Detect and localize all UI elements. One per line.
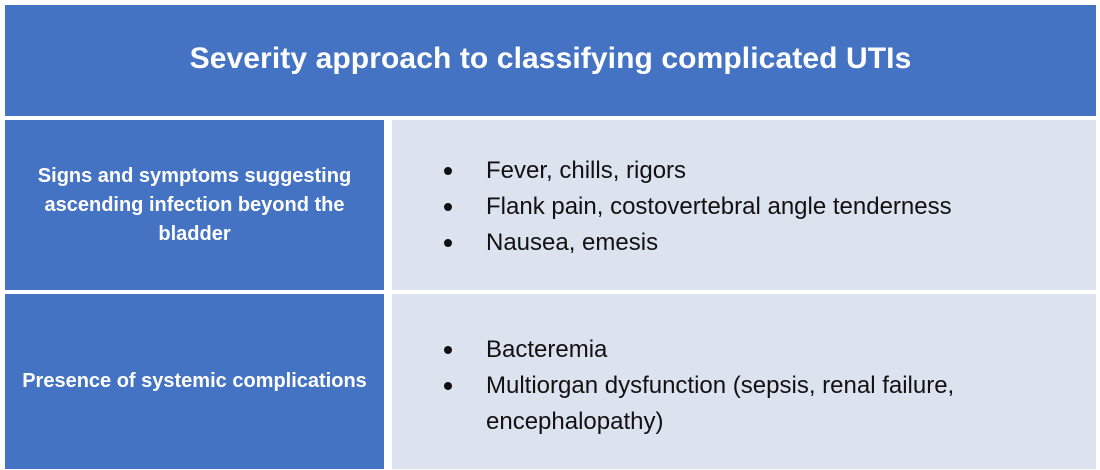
row-content-systemic-complications: Bacteremia Multiorgan dysfunction (sepsi… <box>392 294 1096 469</box>
list-item: Nausea, emesis <box>444 225 1096 261</box>
list-item-label: Fever, chills, rigors <box>486 157 686 184</box>
bullet-dot-icon <box>444 346 452 354</box>
column-divider <box>384 120 392 290</box>
row-label-signs-and-symptoms: Signs and symptoms suggesting ascending … <box>5 120 384 290</box>
table-row: Signs and symptoms suggesting ascending … <box>5 120 1096 290</box>
bullet-dot-icon <box>444 382 452 390</box>
table-title-banner: Severity approach to classifying complic… <box>5 5 1096 116</box>
bullet-list: Bacteremia Multiorgan dysfunction (sepsi… <box>392 332 1096 440</box>
page-title: Severity approach to classifying complic… <box>190 42 912 79</box>
list-item: Fever, chills, rigors <box>444 153 1096 189</box>
list-item: Multiorgan dysfunction (sepsis, renal fa… <box>444 368 1096 440</box>
row-label-systemic-complications: Presence of systemic complications <box>5 294 384 469</box>
list-item-label: Nausea, emesis <box>486 229 658 256</box>
list-item-label: Bacteremia <box>486 336 607 363</box>
bullet-dot-icon <box>444 167 452 175</box>
list-item-label: Flank pain, costovertebral angle tendern… <box>486 193 952 220</box>
list-item: Flank pain, costovertebral angle tendern… <box>444 189 1096 225</box>
bullet-list: Fever, chills, rigors Flank pain, costov… <box>392 153 1096 261</box>
row-content-signs-and-symptoms: Fever, chills, rigors Flank pain, costov… <box>392 120 1096 290</box>
column-divider <box>384 294 392 469</box>
list-item-label: Multiorgan dysfunction (sepsis, renal fa… <box>486 372 954 435</box>
severity-table: Severity approach to classifying complic… <box>5 5 1096 467</box>
bullet-dot-icon <box>444 239 452 247</box>
bullet-dot-icon <box>444 203 452 211</box>
table-row: Presence of systemic complications Bacte… <box>5 294 1096 469</box>
list-item: Bacteremia <box>444 332 1096 368</box>
